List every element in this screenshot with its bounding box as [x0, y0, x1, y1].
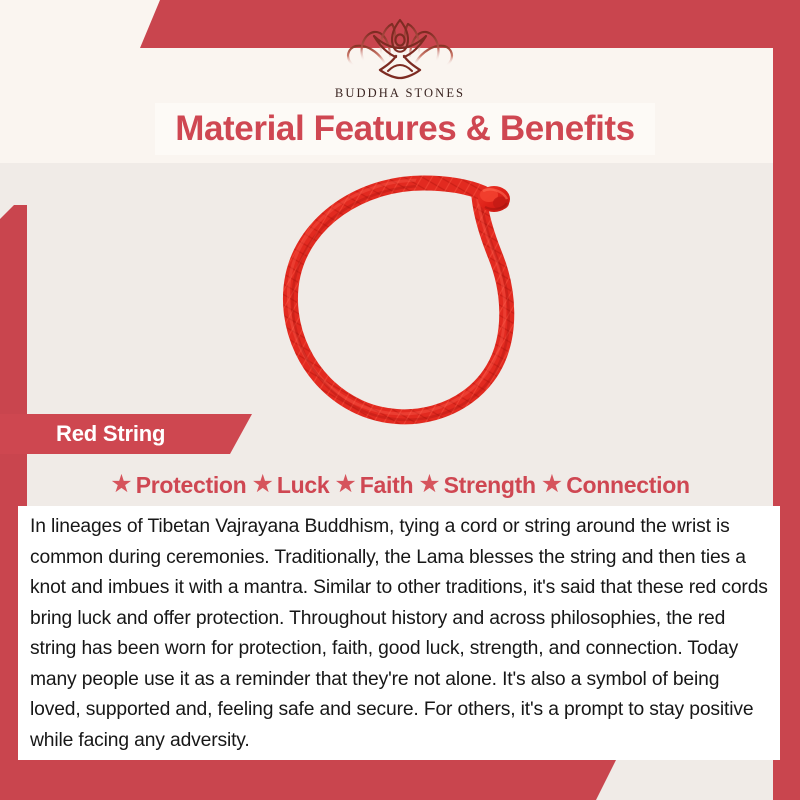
description-panel: In lineages of Tibetan Vajrayana Buddhis…	[18, 506, 780, 760]
star-icon: ★	[541, 472, 563, 497]
feature-item-protection: ★ Protection	[110, 472, 246, 499]
page-title: Material Features & Benefits	[175, 109, 635, 149]
red-string-bracelet-image	[255, 169, 575, 431]
brand-logo: BUDDHA STONES	[0, 14, 800, 101]
feature-item-strength: ★ Strength	[418, 472, 536, 499]
title-banner: Material Features & Benefits	[155, 103, 655, 155]
bracelet-knot	[478, 186, 510, 212]
star-icon: ★	[251, 472, 273, 497]
feature-item-connection: ★ Connection	[541, 472, 690, 499]
star-icon: ★	[110, 472, 132, 497]
product-image-area	[0, 163, 800, 421]
lotus-meditation-icon	[334, 14, 466, 84]
feature-label: Protection	[136, 472, 247, 499]
description-text: In lineages of Tibetan Vajrayana Buddhis…	[30, 512, 770, 756]
infographic-page: BUDDHA STONES Material Features & Benefi…	[0, 0, 800, 800]
product-name-ribbon: Red String	[0, 414, 252, 454]
feature-list: ★ Protection ★ Luck ★ Faith ★ Strength ★…	[27, 466, 773, 504]
feature-item-luck: ★ Luck	[251, 472, 329, 499]
product-name-label: Red String	[56, 421, 165, 447]
star-icon: ★	[334, 472, 356, 497]
brand-name: BUDDHA STONES	[335, 86, 465, 101]
star-icon: ★	[418, 472, 440, 497]
feature-label: Luck	[277, 472, 329, 499]
feature-label: Connection	[566, 472, 690, 499]
feature-label: Faith	[360, 472, 413, 499]
feature-label: Strength	[444, 472, 536, 499]
feature-item-faith: ★ Faith	[334, 472, 413, 499]
